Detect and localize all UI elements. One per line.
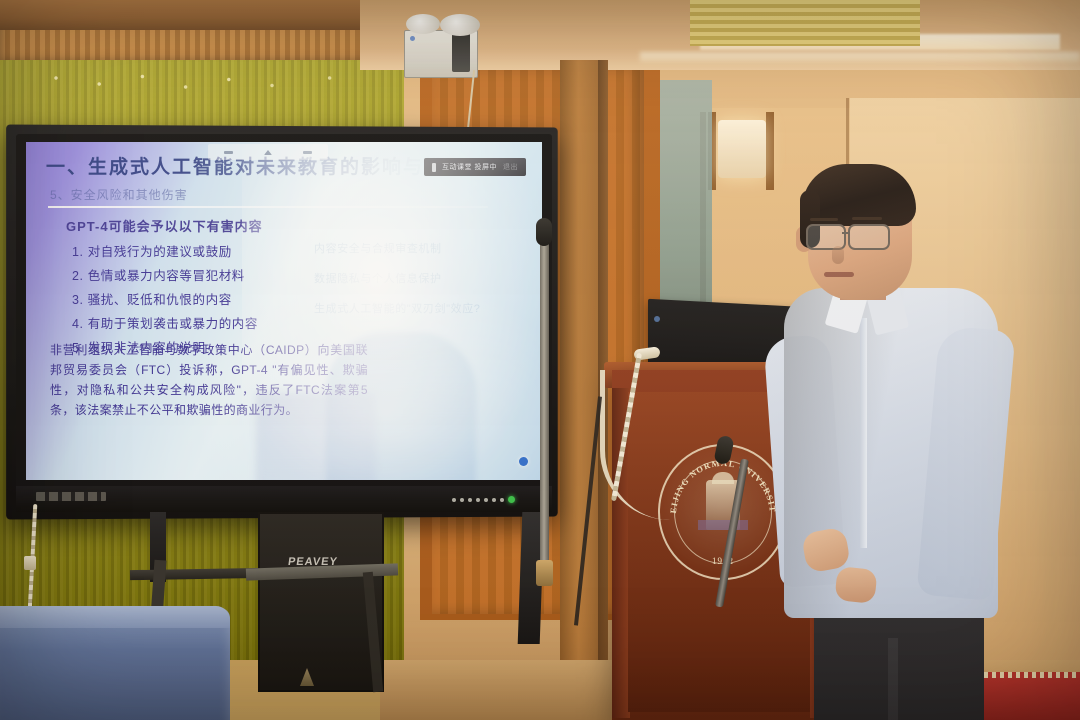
casting-status-bar[interactable]: 互动课堂 投屏中 退出 [424, 158, 526, 176]
slide-control-strip[interactable] [208, 144, 328, 160]
wood-pillar-edge [598, 60, 608, 660]
slide-subtitle: 5、安全风险和其他伤害 [50, 186, 188, 203]
cast-icon [432, 163, 436, 172]
microphone-stand [540, 240, 549, 570]
presenter-nose [832, 246, 844, 264]
presenter-leg-separation [888, 638, 898, 720]
casting-label: 互动课堂 投屏中 [442, 162, 497, 172]
faded-line: 内容安全与合规审查机制 [314, 234, 524, 264]
slide-body-heading: GPT-4可能会予以以下有害内容 [66, 216, 366, 235]
slide-paragraph: 非营利组织人工智能与数字政策中心（CAIDP）向美国联邦贸易委员会（FTC）投诉… [50, 340, 368, 420]
presenter-right-hand [834, 566, 877, 604]
display-button[interactable] [484, 498, 488, 502]
slide-faded-column: 内容安全与合规审查机制 数据隐私与个人信息保护 生成式人工智能的"双刃剑"效应? [314, 234, 524, 324]
microphone-stand-joint [536, 560, 553, 586]
presenter-shirt-placket [860, 318, 867, 548]
ceiling-light-strip-secondary [640, 52, 1080, 62]
faded-line: 数据隐私与个人信息保护 [314, 264, 524, 294]
wall-sconce-light [718, 120, 766, 178]
display-button[interactable] [452, 498, 456, 502]
presenter [778, 168, 1018, 720]
prev-slide-icon[interactable] [224, 151, 233, 154]
projector-indicator-icon [410, 36, 415, 41]
lecture-hall-photo: 一、生成式人工智能对未来教育的影响与挑战 互动课堂 投屏中 退出 5、安全风险和… [0, 0, 1080, 720]
display-port-row[interactable] [36, 492, 106, 501]
display-button[interactable] [492, 498, 496, 502]
casting-exit-label[interactable]: 退出 [503, 162, 518, 172]
display-button-row[interactable] [452, 496, 515, 503]
glasses-lens-right-icon [848, 224, 890, 250]
window-blinds [690, 0, 920, 46]
skirted-table-top [0, 606, 230, 628]
seal-base-icon [698, 520, 748, 530]
slide-divider [48, 206, 488, 208]
play-slide-icon[interactable] [264, 150, 272, 155]
next-slide-icon[interactable] [303, 151, 312, 154]
laptop-logo-icon [654, 316, 660, 322]
display-button[interactable] [476, 498, 480, 502]
microphone-head-icon [536, 218, 552, 246]
display-power-led-icon[interactable] [508, 496, 515, 503]
ceiling-speaker-dome-left [406, 14, 440, 34]
display-button[interactable] [468, 498, 472, 502]
glasses-bridge-icon [842, 232, 850, 234]
presenter-eyebrow-left [810, 218, 838, 221]
presenter-mouth [824, 272, 854, 277]
display-cable-plug [24, 556, 36, 570]
sconce-frame-right [766, 112, 774, 190]
ceiling-speaker-dome-right [440, 14, 480, 36]
display-button[interactable] [460, 498, 464, 502]
presenter-eyebrow-right [852, 217, 882, 220]
faded-line: 生成式人工智能的"双刃剑"效应? [314, 294, 524, 324]
wall-highlight-specks [20, 66, 380, 96]
touch-cursor-dot[interactable] [519, 457, 528, 466]
projector-lens-housing [452, 32, 470, 72]
presentation-screen[interactable]: 一、生成式人工智能对未来教育的影响与挑战 互动课堂 投屏中 退出 5、安全风险和… [26, 142, 542, 480]
display-button[interactable] [500, 498, 504, 502]
